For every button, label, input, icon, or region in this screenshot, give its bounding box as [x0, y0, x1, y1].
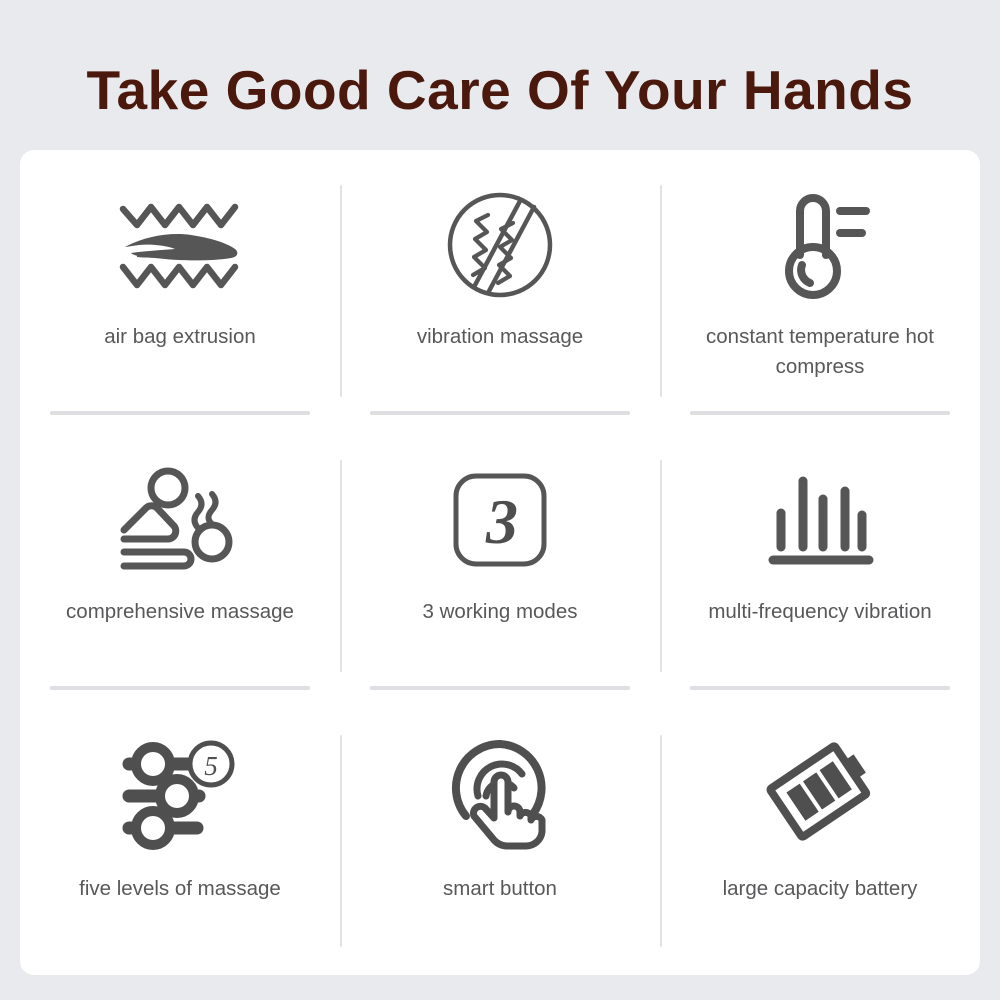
feature-cell-comprehensive-massage[interactable]: comprehensive massage: [20, 425, 340, 700]
feature-cell-smart-button[interactable]: smart button: [340, 700, 660, 975]
feature-cell-working-modes[interactable]: 3 3 working modes: [340, 425, 660, 700]
feature-label: 3 working modes: [423, 597, 578, 627]
sliders-icon: 5: [119, 730, 241, 858]
feature-cell-multi-frequency[interactable]: multi-frequency vibration: [660, 425, 980, 700]
airbag-extrusion-icon: [115, 180, 245, 310]
levels-count-badge: 5: [204, 751, 218, 781]
vibration-massage-icon: [444, 180, 556, 310]
page-title: Take Good Care Of Your Hands: [0, 62, 1000, 120]
feature-cell-constant-temperature[interactable]: constant temperature hot compress: [660, 150, 980, 425]
feature-label: comprehensive massage: [66, 597, 294, 627]
feature-label: multi-frequency vibration: [708, 597, 931, 627]
feature-label: vibration massage: [417, 322, 583, 352]
battery-icon: [761, 730, 879, 858]
feature-label: smart button: [443, 874, 557, 904]
features-grid: air bag extrusion vibration massage: [20, 150, 980, 975]
feature-label: five levels of massage: [79, 874, 281, 904]
feature-label: constant temperature hot compress: [685, 322, 955, 382]
feature-cell-vibration-massage[interactable]: vibration massage: [340, 150, 660, 425]
feature-cell-battery[interactable]: large capacity battery: [660, 700, 980, 975]
feature-cell-air-bag-extrusion[interactable]: air bag extrusion: [20, 150, 340, 425]
tap-hand-icon: [447, 730, 553, 858]
features-card: air bag extrusion vibration massage: [20, 150, 980, 975]
thermometer-icon: [766, 180, 874, 310]
feature-label: air bag extrusion: [104, 322, 256, 352]
feature-label: large capacity battery: [723, 874, 918, 904]
comprehensive-massage-icon: [118, 455, 242, 585]
feature-grid-page: Take Good Care Of Your Hands air bag ext…: [0, 0, 1000, 1000]
three-modes-icon: 3: [450, 455, 550, 585]
feature-cell-five-levels[interactable]: 5 five levels of massage: [20, 700, 340, 975]
mode-count-badge: 3: [485, 486, 518, 557]
multi-frequency-bars-icon: [765, 455, 875, 585]
